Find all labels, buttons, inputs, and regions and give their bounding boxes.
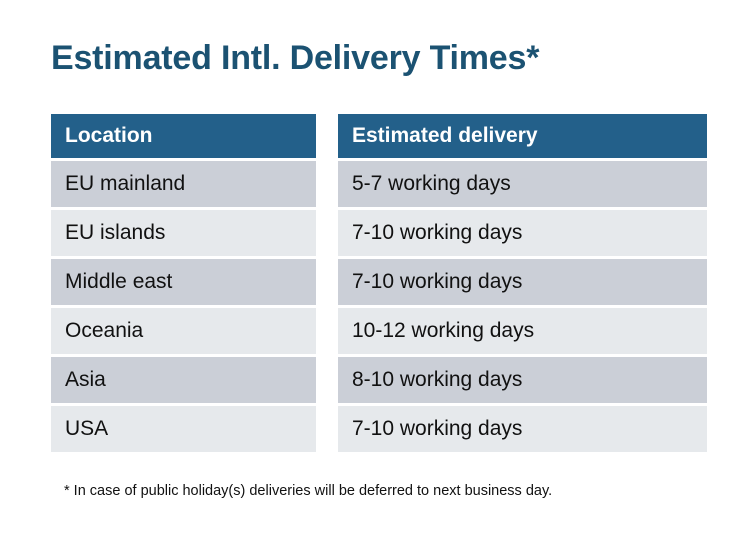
table-row: EU mainland 5-7 working days (51, 161, 691, 207)
footnote-text: * In case of public holiday(s) deliverie… (64, 481, 552, 501)
delivery-times-table: Location Estimated delivery EU mainland … (51, 114, 691, 452)
column-divider (316, 308, 338, 354)
column-divider (316, 357, 338, 403)
table-row: Oceania 10-12 working days (51, 308, 691, 354)
table-row: USA 7-10 working days (51, 406, 691, 452)
column-divider (316, 161, 338, 207)
table-row: Middle east 7-10 working days (51, 259, 691, 305)
cell-location: Asia (51, 357, 316, 403)
cell-estimated-delivery: 5-7 working days (338, 161, 707, 207)
cell-estimated-delivery: 7-10 working days (338, 210, 707, 256)
column-divider (316, 406, 338, 452)
cell-location: EU islands (51, 210, 316, 256)
column-divider (316, 114, 338, 158)
cell-location: EU mainland (51, 161, 316, 207)
table-row: EU islands 7-10 working days (51, 210, 691, 256)
table-header-row: Location Estimated delivery (51, 114, 691, 158)
column-divider (316, 259, 338, 305)
column-header-location: Location (51, 114, 316, 158)
cell-location: Oceania (51, 308, 316, 354)
page-title: Estimated Intl. Delivery Times* (51, 36, 539, 80)
column-divider (316, 210, 338, 256)
column-header-estimated-delivery: Estimated delivery (338, 114, 707, 158)
cell-location: USA (51, 406, 316, 452)
cell-estimated-delivery: 8-10 working days (338, 357, 707, 403)
cell-location: Middle east (51, 259, 316, 305)
cell-estimated-delivery: 7-10 working days (338, 406, 707, 452)
table-row: Asia 8-10 working days (51, 357, 691, 403)
delivery-times-page: Estimated Intl. Delivery Times* Location… (0, 0, 745, 536)
cell-estimated-delivery: 10-12 working days (338, 308, 707, 354)
cell-estimated-delivery: 7-10 working days (338, 259, 707, 305)
